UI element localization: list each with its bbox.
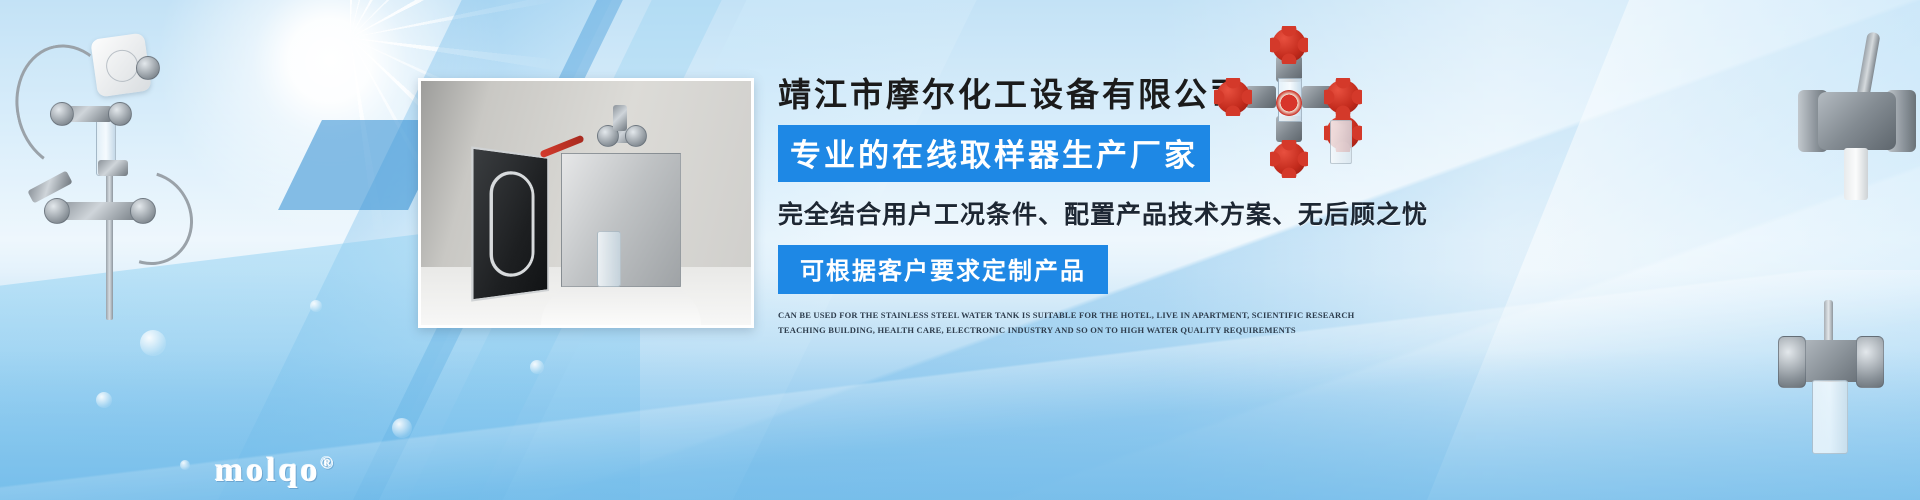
water-droplet-icon	[392, 418, 412, 438]
bottom-right-valve-image	[1760, 300, 1910, 480]
certification-seal-icon	[1276, 90, 1302, 116]
subline: 完全结合用户工况条件、配置产品技术方案、无后顾之忧	[778, 195, 1398, 231]
red-handwheel-icon	[1272, 142, 1306, 176]
right-lever-valve-image	[1790, 30, 1920, 210]
stainless-cabinet	[561, 153, 681, 287]
flange	[1856, 336, 1884, 388]
sample-bottle	[1330, 120, 1352, 164]
sample-bottle	[597, 231, 621, 287]
tagline-badge: 可根据客户要求定制产品	[778, 245, 1108, 294]
headline-badge: 专业的在线取样器生产厂家	[778, 125, 1210, 182]
flange	[50, 102, 74, 126]
flange	[108, 102, 132, 126]
water-droplet-icon	[310, 300, 322, 312]
glass-sight-tube	[1812, 380, 1848, 454]
valve-body	[1818, 92, 1896, 150]
red-handwheel-icon	[1216, 80, 1250, 114]
water-droplet-icon	[140, 330, 166, 356]
red-handwheel-icon	[1272, 28, 1306, 62]
registered-mark-icon: ®	[321, 454, 337, 473]
center-product-photo	[418, 78, 754, 328]
right-manifold-image	[1212, 38, 1382, 158]
photo-pedestal	[541, 285, 701, 325]
watermark-logo: molqo®	[215, 452, 336, 490]
flange	[136, 56, 160, 80]
outlet-stem	[1844, 148, 1868, 200]
valve-block	[98, 160, 128, 176]
water-droplet-icon	[96, 392, 112, 408]
english-blurb: CAN BE USED FOR THE STAINLESS STEEL WATE…	[778, 308, 1378, 338]
product-banner: 靖江市摩尔化工设备有限公司 专业的在线取样器生产厂家 完全结合用户工况条件、配置…	[0, 0, 1920, 500]
valve-stem	[1824, 300, 1833, 344]
flange	[44, 198, 70, 224]
top-valve-assembly	[591, 103, 647, 151]
watermark-text: molqo	[215, 452, 321, 489]
valve-stem	[613, 105, 627, 131]
left-product-image	[8, 20, 218, 320]
flange	[625, 125, 647, 147]
lever-handle	[1856, 31, 1880, 98]
water-droplet-icon	[180, 460, 190, 470]
water-droplet-icon	[530, 360, 544, 374]
flange	[1778, 336, 1806, 388]
flange	[130, 198, 156, 224]
red-handwheel-icon	[1326, 80, 1360, 114]
cabinet-door	[471, 146, 549, 301]
